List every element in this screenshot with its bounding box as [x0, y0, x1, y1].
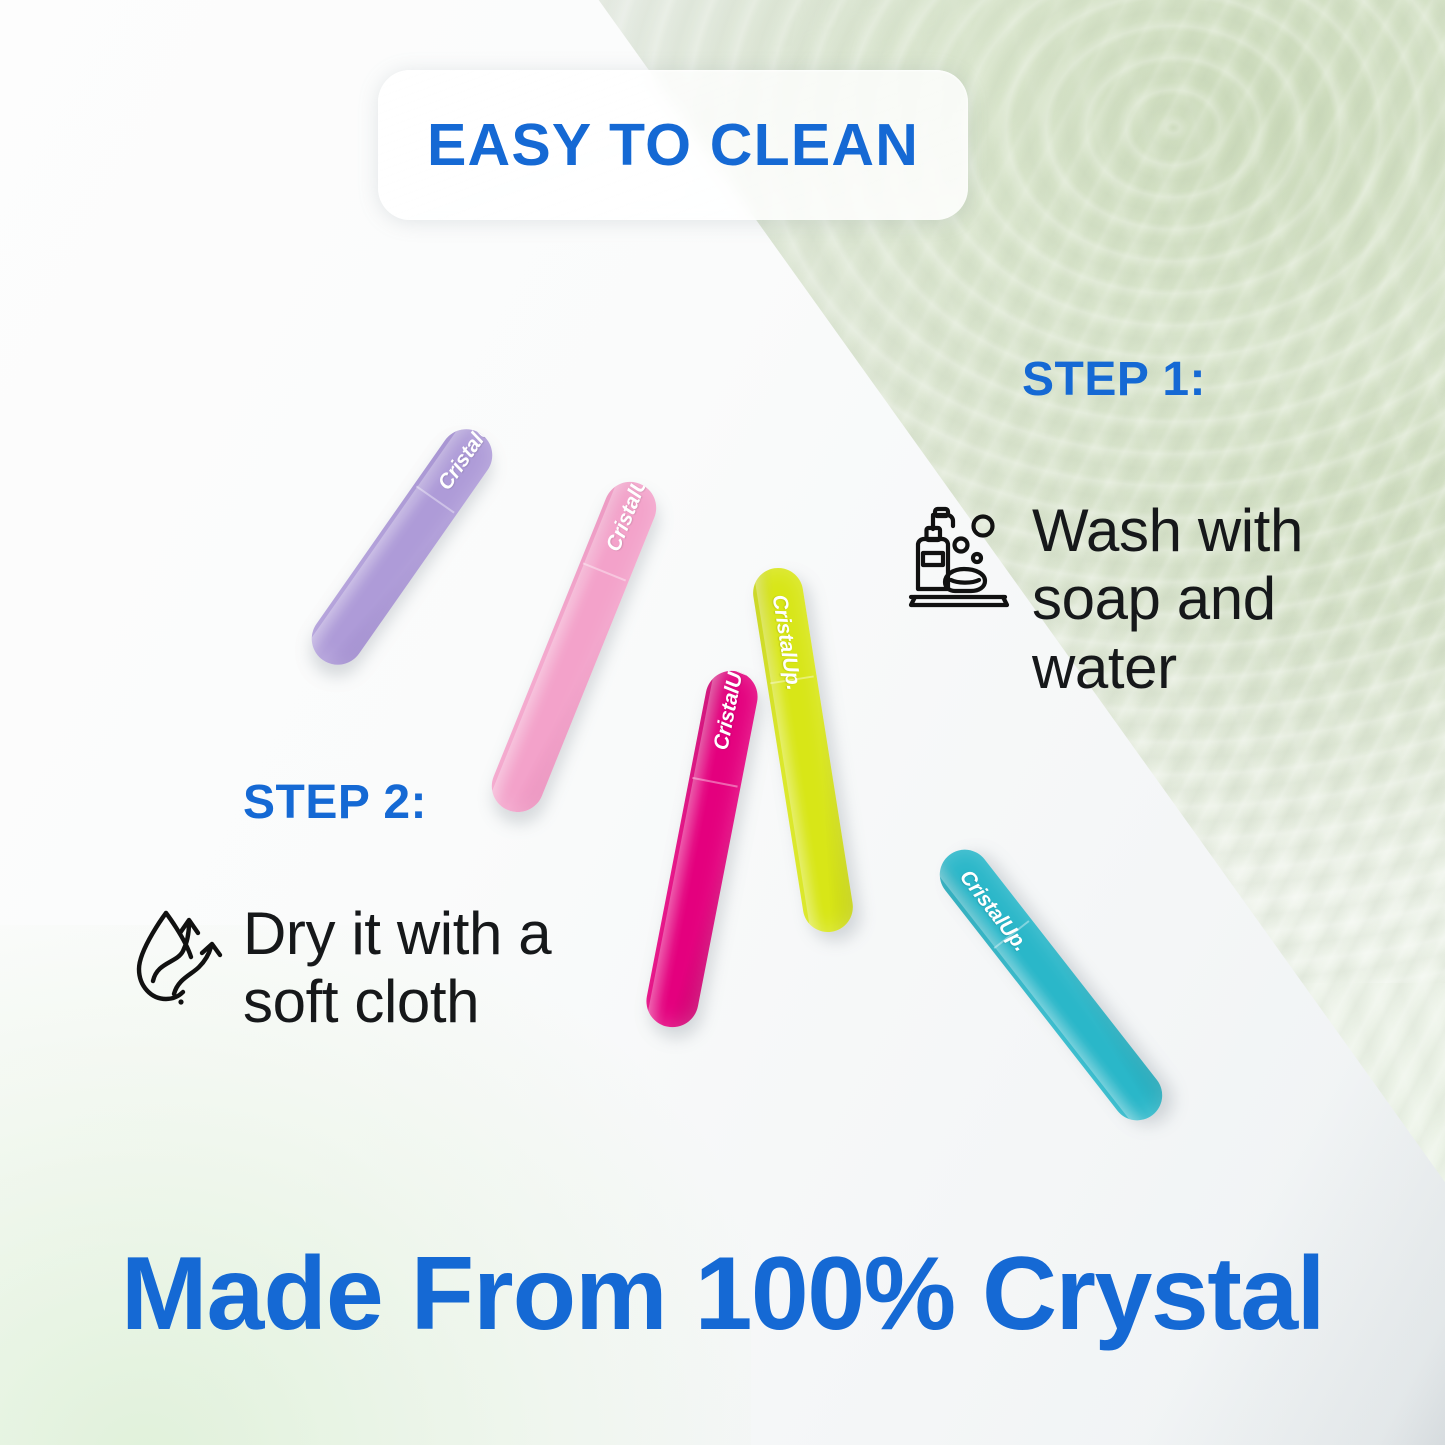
headline-bold-part: 100% Crystal [695, 1236, 1325, 1352]
headline-light-part: Made From [121, 1236, 695, 1352]
water-drop-drying-icon [133, 905, 237, 1013]
nail-file-logo: CristalUp. [433, 439, 482, 495]
nail-file-logo: CristalUp. [709, 697, 742, 753]
nail-file-seam [770, 675, 814, 684]
bottom-headline: Made From 100% Crystal [0, 1242, 1445, 1346]
step-2-heading: STEP 2: [243, 775, 427, 830]
step-1-body: Wash with soap and water [1032, 497, 1392, 702]
step-1-heading: STEP 1: [1022, 352, 1206, 407]
soap-dispenser-icon [905, 503, 1017, 613]
nail-file-logo: CristalUp. [954, 866, 1004, 920]
easy-to-clean-badge: EASY TO CLEAN [378, 70, 968, 220]
step-2-body: Dry it with a soft cloth [243, 900, 643, 1037]
product-infographic: EASY TO CLEAN CristalUp. CristalUp. Cris… [0, 0, 1445, 1445]
nail-file-seam [994, 920, 1030, 949]
nail-file-seam [583, 562, 626, 581]
badge-label: EASY TO CLEAN [427, 111, 919, 179]
nail-file-logo: CristalUp. [602, 498, 644, 555]
nail-file-seam [416, 486, 455, 514]
nail-file-logo: CristalUp. [767, 593, 799, 646]
nail-file-seam [692, 777, 737, 788]
